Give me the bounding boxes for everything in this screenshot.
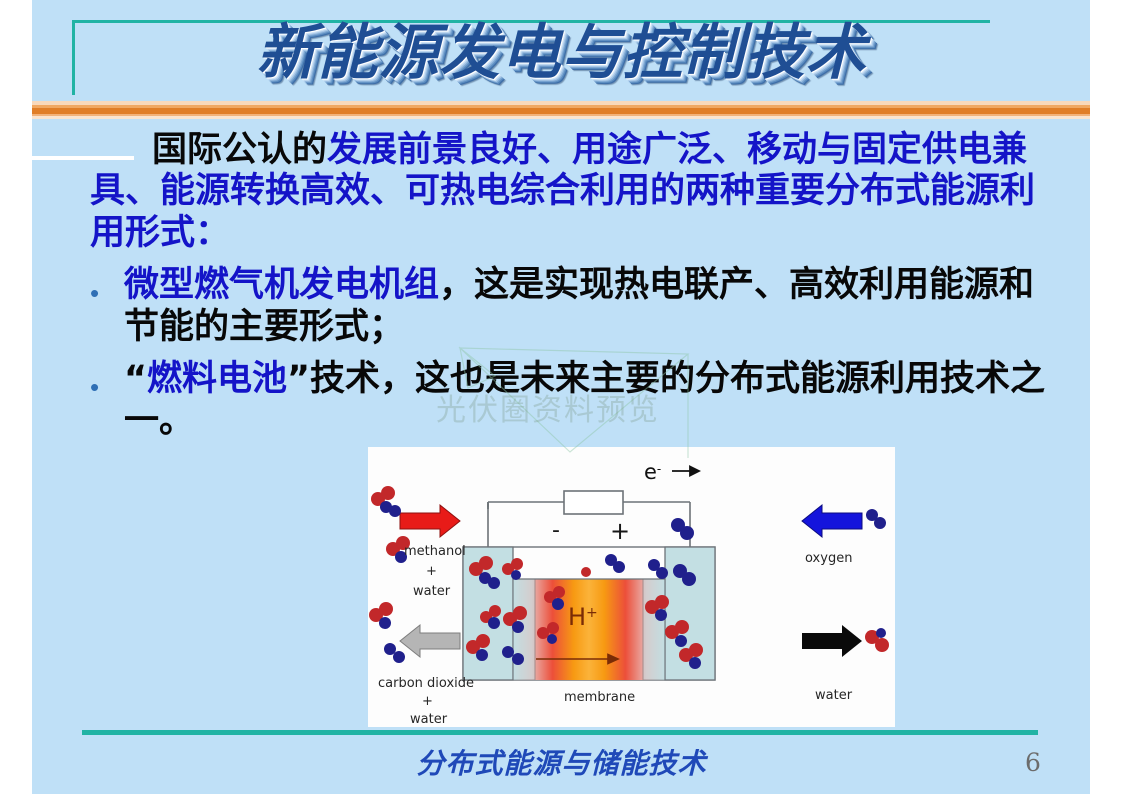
- intro-lead-text: 国际公认的: [152, 130, 327, 170]
- membrane-label: membrane: [564, 690, 635, 705]
- fuel-cell-figure: - + e- H+: [368, 447, 895, 727]
- bullet-1-text: 微型燃气机发电机组，这是实现热电联产、高效利用能源和节能的主要形式；: [124, 264, 1050, 348]
- carbon-dioxide-water-label: water: [410, 712, 448, 727]
- bullet-marker-icon: •: [90, 264, 124, 306]
- orange-band-pale-bottom: [32, 116, 1090, 119]
- water-label: water: [815, 688, 853, 703]
- bullet-2-text: “燃料电池”技术，这也是未来主要的分布式能源利用技术之一。: [124, 358, 1050, 442]
- bullet-item-1: • 微型燃气机发电机组，这是实现热电联产、高效利用能源和节能的主要形式；: [90, 264, 1050, 348]
- bullet-2-open-quote: “: [124, 359, 147, 399]
- cathode-diffusion-layer: [643, 579, 665, 680]
- page-number: 6: [1025, 748, 1041, 777]
- methanol-water-label: water: [413, 584, 451, 599]
- load-resistor-box: [564, 491, 623, 514]
- carbon-dioxide-plus-label: +: [422, 694, 433, 709]
- orange-divider-rule: [32, 101, 1090, 119]
- carbon-dioxide-label: carbon dioxide: [378, 676, 474, 691]
- positive-terminal-label: +: [610, 517, 630, 545]
- membrane-region: [513, 579, 665, 680]
- slide-root: 新能源发电与控制技术 国际公认的发展前景良好、用途广泛、移动与固定供电兼具、能源…: [0, 0, 1123, 794]
- bullet-2-highlight: 燃料电池: [147, 359, 287, 399]
- molecule-proton: [581, 567, 591, 577]
- methanol-label: methanol: [404, 544, 466, 559]
- fuel-cell-diagram-svg: - + e- H+: [368, 447, 895, 727]
- slide-body: 国际公认的发展前景良好、用途广泛、移动与固定供电兼具、能源转换高效、可热电综合利…: [90, 130, 1050, 442]
- oxygen-label: oxygen: [805, 551, 852, 566]
- bullet-1-highlight: 微型燃气机发电机组: [124, 265, 439, 305]
- slide-title: 新能源发电与控制技术: [0, 22, 1123, 85]
- methanol-plus-label: +: [426, 564, 437, 579]
- footer-title: 分布式能源与储能技术: [0, 742, 1123, 782]
- bullet-item-2: • “燃料电池”技术，这也是未来主要的分布式能源利用技术之一。: [90, 358, 1050, 442]
- bullet-marker-icon: •: [90, 358, 124, 400]
- footer-teal-rule: [82, 730, 1038, 735]
- negative-terminal-label: -: [552, 518, 560, 543]
- intro-paragraph: 国际公认的发展前景良好、用途广泛、移动与固定供电兼具、能源转换高效、可热电综合利…: [90, 130, 1050, 254]
